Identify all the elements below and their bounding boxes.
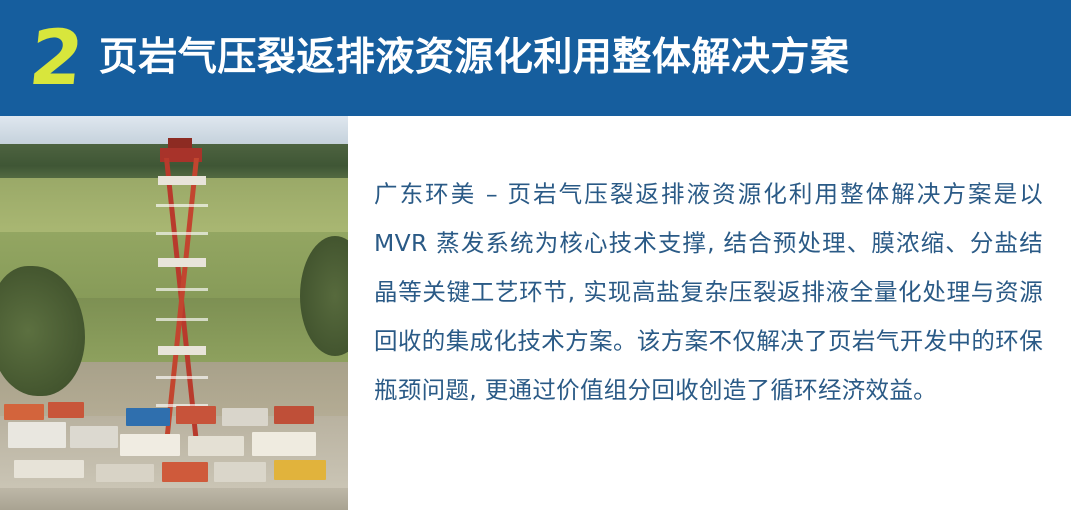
derrick-brace-1 (156, 204, 208, 207)
photo-equipment-tank-red-2 (48, 402, 84, 418)
photo-drilling-derrick (150, 148, 212, 438)
page-title: 页岩气压裂返排液资源化利用整体解决方案 (99, 35, 1071, 81)
photo-equipment-truck-2 (96, 464, 154, 482)
photo-equipment-truck-1 (14, 460, 84, 478)
photo-equipment-tank-red-1 (4, 404, 44, 420)
solution-description-text: 广东环美 – 页岩气压裂返排液资源化利用整体解决方案是以 MVR 蒸发系统为核心… (374, 170, 1043, 415)
photo-equipment-truck-red (162, 462, 208, 482)
photo-equipment-truck-yellow (274, 460, 326, 480)
photo-equipment-container-1 (8, 422, 66, 448)
derrick-band-3 (158, 346, 206, 355)
derrick-brace-4 (156, 318, 208, 321)
photo-equipment-trailer-2 (188, 436, 244, 456)
photo-equipment-truck-3 (214, 462, 266, 482)
photo-foreground-strip (0, 488, 348, 510)
photo-equipment-trailer-1 (120, 434, 180, 456)
section-number: 2 (26, 20, 85, 96)
page-root: 2 页岩气压裂返排液资源化利用整体解决方案 (0, 0, 1071, 510)
derrick-band-1 (158, 176, 206, 185)
photo-equipment-trailer-3 (252, 432, 316, 456)
content-row: 广东环美 – 页岩气压裂返排液资源化利用整体解决方案是以 MVR 蒸发系统为核心… (0, 116, 1071, 510)
photo-equipment-tank-red-4 (274, 406, 314, 424)
derrick-brace-2 (156, 232, 208, 235)
photo-equipment-tank-red-3 (176, 406, 216, 424)
derrick-brace-3 (156, 288, 208, 291)
description-panel: 广东环美 – 页岩气压裂返排液资源化利用整体解决方案是以 MVR 蒸发系统为核心… (348, 116, 1071, 510)
derrick-band-2 (158, 258, 206, 267)
derrick-brace-5 (156, 376, 208, 379)
photo-equipment-tank-white-1 (222, 408, 268, 426)
shale-gas-drilling-rig-photo (0, 116, 348, 510)
photo-equipment-container-2 (70, 426, 118, 448)
photo-equipment-tank-blue-1 (126, 408, 170, 426)
section-header-band: 2 页岩气压裂返排液资源化利用整体解决方案 (0, 0, 1071, 116)
